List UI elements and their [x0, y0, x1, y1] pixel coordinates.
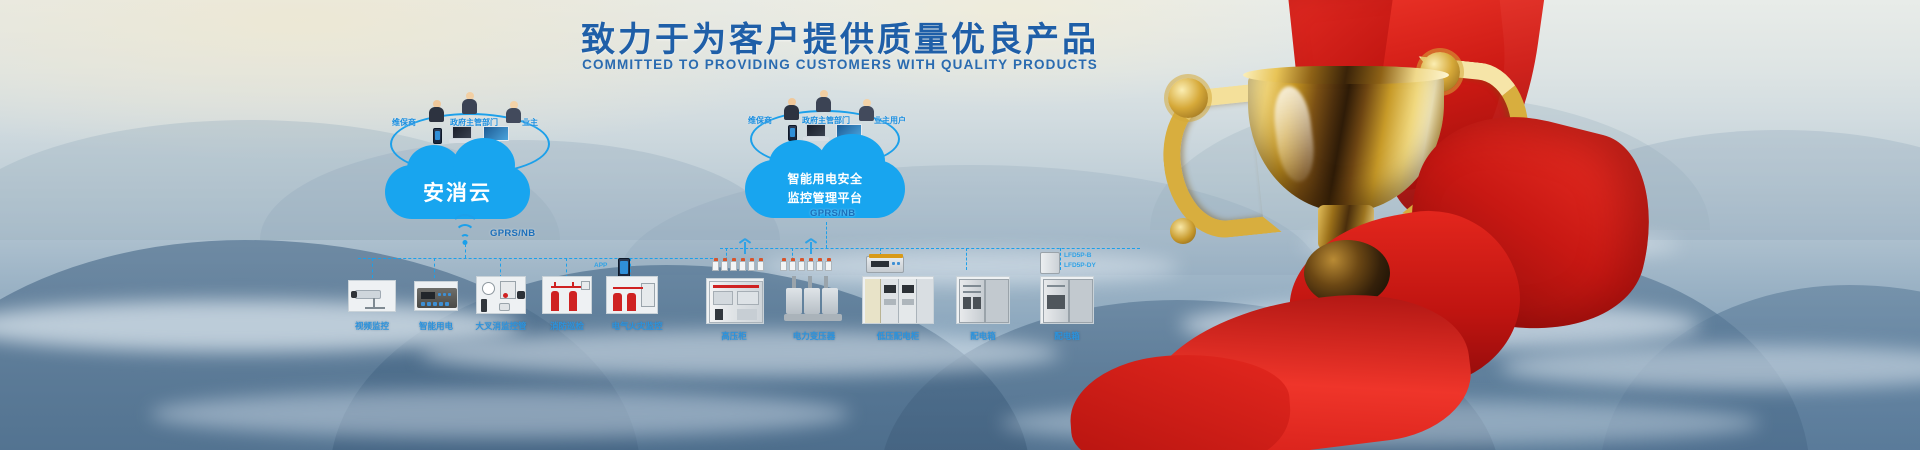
drop-line	[630, 258, 631, 278]
platform-label: 智能用电安全 监控管理平台	[787, 170, 862, 207]
device-label: 电气火灾监控	[598, 320, 676, 332]
meter-bank	[780, 258, 844, 273]
device-label: 消防巡检	[532, 320, 602, 332]
wifi-signal-icon	[448, 222, 482, 244]
drop-line	[434, 258, 435, 278]
device-label: 配电箱	[944, 330, 1022, 342]
device-card-distribution-box-1	[956, 276, 1010, 324]
smartphone-icon	[788, 125, 797, 141]
drop-line	[500, 258, 501, 278]
role-label-owner: 业主	[522, 117, 538, 128]
laptop-icon	[803, 124, 829, 142]
platform-label-line2: 监控管理平台	[787, 191, 862, 205]
link-label-gprs: GPRS/NB	[810, 208, 855, 219]
drop-line	[1060, 248, 1061, 270]
device-card-smart-power	[414, 281, 458, 311]
person-icon-maintainer	[429, 100, 444, 122]
trophy-rim	[1243, 66, 1449, 84]
antenna-icon	[738, 238, 752, 254]
meter-bank	[712, 258, 776, 273]
drop-line	[566, 258, 567, 278]
drop-line	[465, 244, 466, 258]
smartphone-icon	[433, 128, 442, 144]
trophy-scroll-knot	[1168, 78, 1208, 118]
trophy-scroll-tail	[1170, 218, 1196, 244]
protection-module	[1040, 252, 1060, 274]
device-label: 大叉消监控管	[462, 320, 540, 332]
antenna-icon	[804, 238, 818, 254]
platform-label: 安消云	[423, 177, 492, 207]
controller-module	[866, 256, 904, 273]
device-label: 高压柜	[694, 330, 774, 342]
app-tag: APP	[594, 262, 607, 269]
role-label-maintainer: 维保商	[392, 117, 416, 128]
person-icon-government	[462, 92, 477, 114]
device-card-fire-inspection	[542, 276, 592, 314]
device-card-cctv	[348, 280, 396, 312]
role-label-maintainer: 维保商	[748, 115, 772, 126]
role-label-owner: 业主用户	[874, 115, 906, 126]
bus-line	[358, 258, 718, 259]
drop-line	[372, 258, 373, 278]
device-card-transformer	[782, 276, 844, 324]
link-label-gprs: GPRS/NB	[490, 228, 535, 239]
smartphone-icon	[618, 258, 630, 278]
device-card-lv-distribution	[862, 276, 934, 324]
person-icon-owner	[506, 101, 521, 123]
person-icon-maintainer	[784, 98, 799, 120]
person-icon-government	[816, 90, 831, 112]
platform-label-line1: 智能用电安全	[787, 172, 862, 186]
device-label: 视频监控	[336, 320, 408, 332]
device-card-water-system	[476, 276, 526, 314]
person-icon-owner	[859, 99, 874, 121]
device-label: 电力变压器	[774, 330, 854, 342]
device-card-electrical-fire	[606, 276, 658, 314]
drop-line	[966, 248, 967, 270]
trophy-illustration	[1080, 0, 1640, 450]
promo-banner: 致力于为客户提供质量优良产品 COMMITTED TO PROVIDING CU…	[0, 0, 1920, 450]
device-card-hv-switchgear	[706, 278, 764, 324]
platform-cloud-anxiaoyun: 安消云	[385, 165, 530, 219]
diagram-anxiaoyun: 维保商 政府主管部门 业主 安消云 GPRS/NB APP	[330, 0, 750, 450]
device-label: 低压配电柜	[858, 330, 938, 342]
drop-line	[826, 222, 827, 248]
bus-line	[720, 248, 1140, 249]
